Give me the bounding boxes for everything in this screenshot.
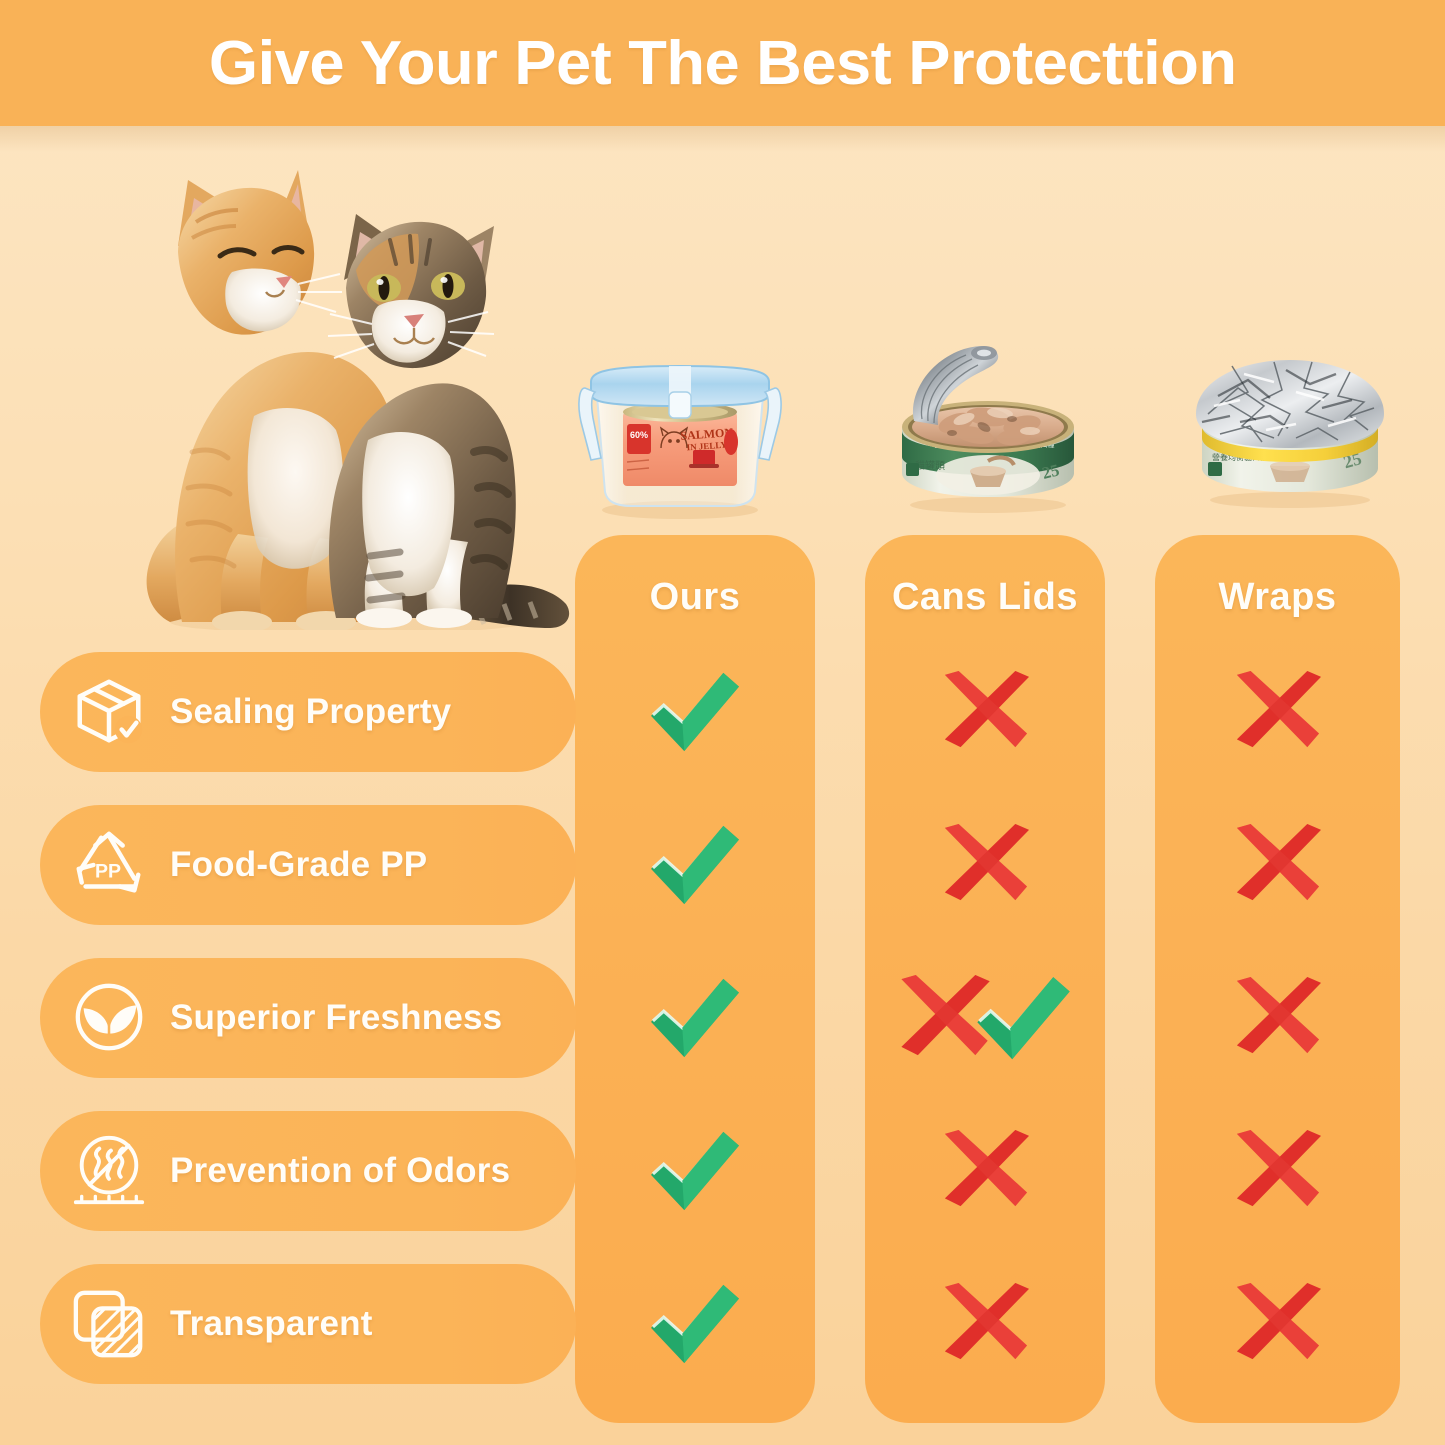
cross-icon-wraps-row5 <box>1227 1281 1327 1367</box>
transparent-icon <box>66 1281 152 1367</box>
feature-label: Food-Grade PP <box>170 845 427 885</box>
feature-row-4: Prevention of Odors <box>40 1111 576 1231</box>
cross-icon-cans-row5 <box>935 1281 1035 1367</box>
header-bar: Give Your Pet The Best Protecttion <box>0 0 1445 126</box>
cross-icon-cans-row4 <box>935 1128 1035 1214</box>
no-odor-icon <box>66 1128 152 1214</box>
feature-label: Prevention of Odors <box>170 1151 510 1191</box>
column-header-wraps: Wraps <box>1155 535 1400 659</box>
column-header-ours: Ours <box>575 535 815 659</box>
cross-icon-wraps-row1 <box>1227 669 1327 755</box>
leaf-circle-icon <box>66 975 152 1061</box>
check-icon-ours-row5 <box>645 1281 745 1367</box>
cross-icon-cans-row1 <box>935 669 1035 755</box>
cross-icon-wraps-row4 <box>1227 1128 1327 1214</box>
feature-row-5: Transparent <box>40 1264 576 1384</box>
check-icon-ours-row1 <box>645 669 745 755</box>
infographic-canvas: Give Your Pet The Best Protecttion <box>0 0 1445 1445</box>
cross-icon-wraps-row3 <box>1227 975 1327 1061</box>
column-header-cans-lids: Cans Lids <box>865 535 1105 659</box>
cats-photo <box>122 152 574 630</box>
feature-row-1: Sealing Property <box>40 652 576 772</box>
page-title: Give Your Pet The Best Protecttion <box>209 28 1237 99</box>
svg-text:貓罐頭: 貓罐頭 <box>915 459 945 472</box>
box-check-icon <box>66 669 152 755</box>
feature-row-2: Food-Grade PP <box>40 805 576 925</box>
open-can-product: 營養均衡易口齒 營養均衡貓口糧 貓罐頭 25 <box>880 335 1096 515</box>
sealed-container-product: 60% SALMON IN JELLY <box>565 352 795 522</box>
cross-icon-cans-row2 <box>935 822 1035 908</box>
check-icon-ours-row4 <box>645 1128 745 1214</box>
check-icon-cans-row3-b <box>971 973 1076 1063</box>
recycle-pp-icon <box>66 822 152 908</box>
svg-text:60%: 60% <box>630 430 648 440</box>
cross-icon-wraps-row2 <box>1227 822 1327 908</box>
feature-row-3: Superior Freshness <box>40 958 576 1078</box>
feature-label: Transparent <box>170 1304 373 1344</box>
check-icon-ours-row2 <box>645 822 745 908</box>
feature-label: Sealing Property <box>170 692 451 732</box>
feature-label: Superior Freshness <box>170 998 502 1038</box>
foil-wrap-product: 營養均衡貓口糧 25 <box>1178 330 1402 510</box>
check-icon-ours-row3 <box>645 975 745 1061</box>
